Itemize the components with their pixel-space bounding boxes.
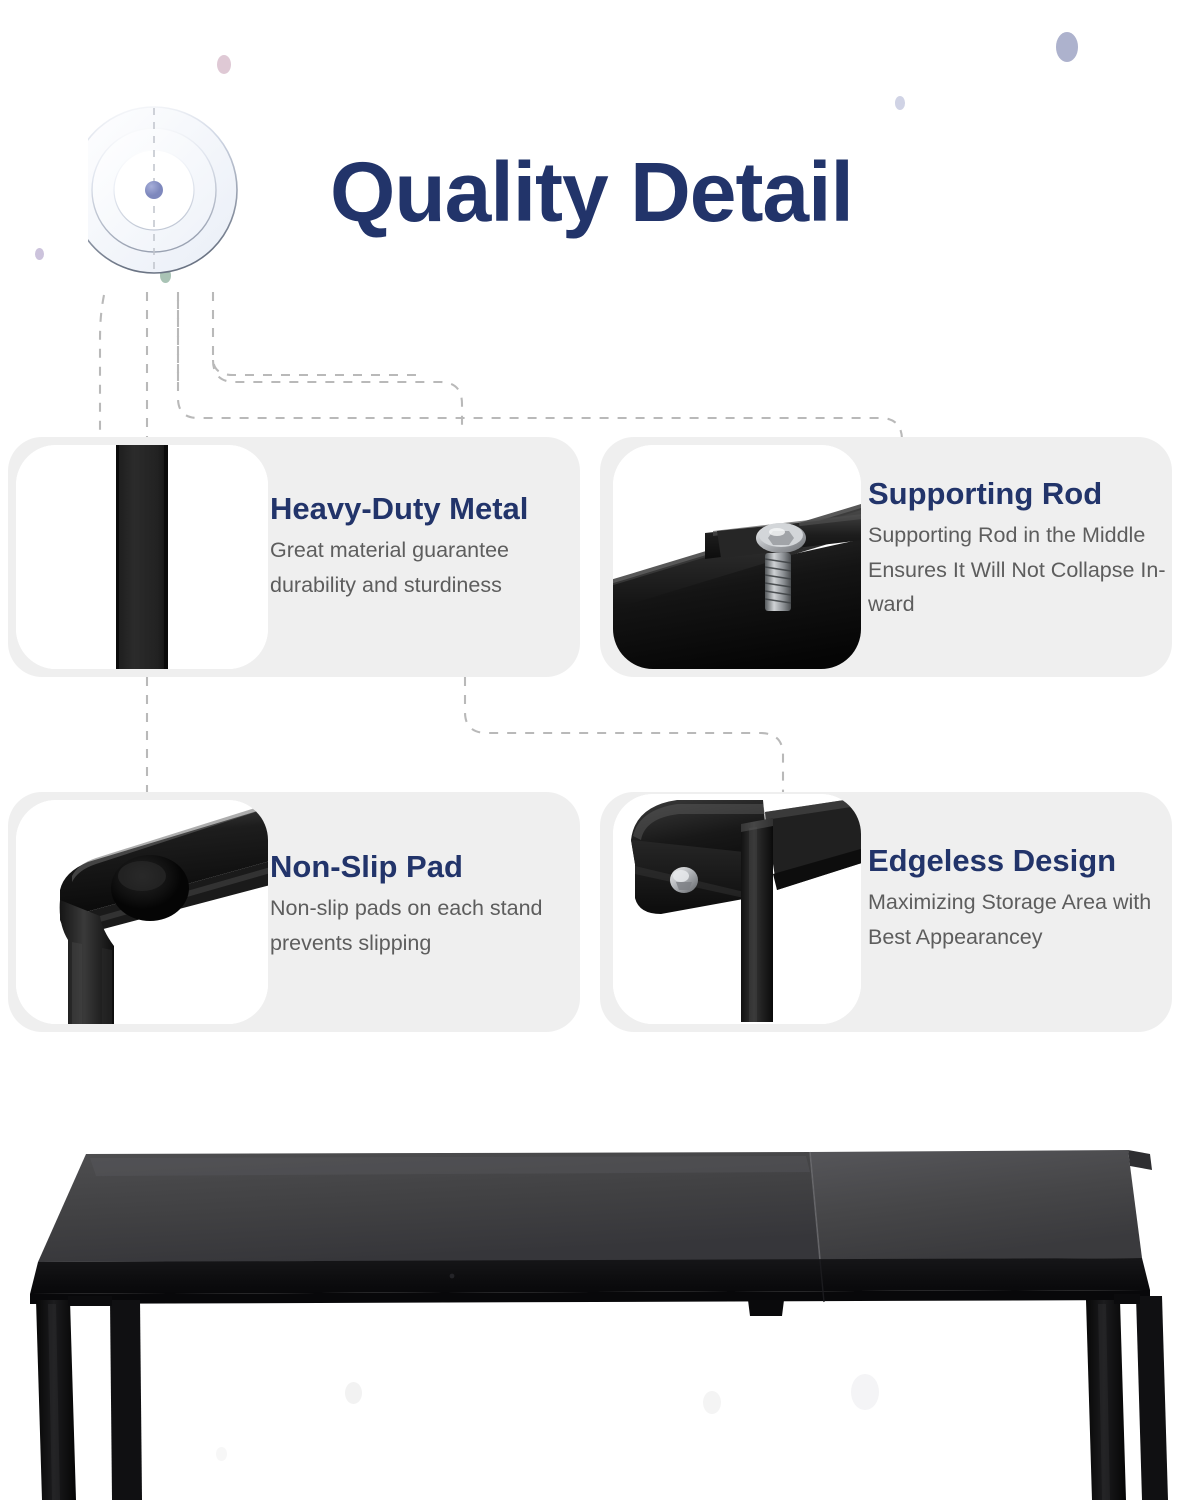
non-slip-pad-body: Non-slip pads on each stand prevents sli… <box>270 891 570 961</box>
heavy-duty-metal-heading: Heavy-Duty Metal <box>270 492 570 527</box>
non-slip-pad-thumbnail <box>16 800 268 1024</box>
heavy-duty-metal-text: Heavy-Duty Metal Great material guarante… <box>270 492 570 602</box>
page-title: Quality Detail <box>330 150 853 234</box>
radar-target-icon <box>88 90 278 305</box>
edgeless-design-heading: Edgeless Design <box>868 844 1168 879</box>
edgeless-design-body: Maximizing Storage Area with Best Appear… <box>868 885 1168 955</box>
non-slip-pad-text: Non-Slip Pad Non-slip pads on each stand… <box>270 850 570 960</box>
supporting-rod-body: Supporting Rod in the Middle Ensures It … <box>868 518 1168 622</box>
heavy-duty-metal-thumbnail <box>16 445 268 669</box>
feature-card-heavy-duty-metal[interactable]: Heavy-Duty Metal Great material guarante… <box>8 437 580 677</box>
heavy-duty-metal-body: Great material guarantee durability and … <box>270 533 570 603</box>
supporting-rod-text: Supporting Rod Supporting Rod in the Mid… <box>868 477 1168 622</box>
feature-card-edgeless-design[interactable]: Edgeless Design Maximizing Storage Area … <box>600 792 1172 1032</box>
decor-dot-pink <box>217 55 231 74</box>
decor-dot-lilac <box>895 96 905 110</box>
feature-card-non-slip-pad[interactable]: Non-Slip Pad Non-slip pads on each stand… <box>8 792 580 1032</box>
edgeless-design-thumbnail <box>613 794 861 1024</box>
supporting-rod-heading: Supporting Rod <box>868 477 1168 512</box>
supporting-rod-thumbnail <box>613 445 861 669</box>
feature-card-supporting-rod[interactable]: Supporting Rod Supporting Rod in the Mid… <box>600 437 1172 677</box>
black-console-table-photo <box>0 1110 1177 1500</box>
floor-dot-1 <box>345 1382 362 1404</box>
infographic-page: Quality Detail <box>0 0 1177 1500</box>
edgeless-design-text: Edgeless Design Maximizing Storage Area … <box>868 844 1168 954</box>
non-slip-pad-heading: Non-Slip Pad <box>270 850 570 885</box>
decor-dot-blue <box>1056 32 1078 62</box>
decor-dot-violet <box>35 248 44 260</box>
